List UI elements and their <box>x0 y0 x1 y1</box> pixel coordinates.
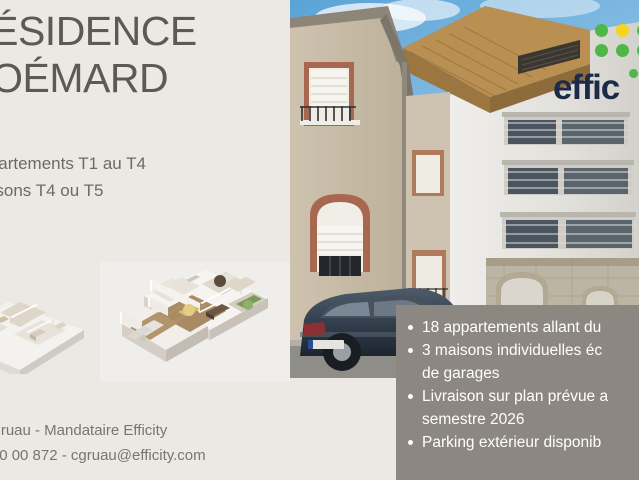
logo-dot-4 <box>595 44 608 57</box>
title-line-1: RÉSIDENCE <box>0 8 292 55</box>
feature-item-2: 3 maisons individuelles éc <box>396 339 639 362</box>
feature-item-3: Livraison sur plan prévue a <box>396 385 639 408</box>
feature-item-3-continued: semestre 2026 <box>396 408 639 431</box>
logo-i-dot-icon <box>629 69 638 78</box>
feature-item-2-continued: de garages <box>396 362 639 385</box>
logo-dot-1 <box>595 24 608 37</box>
logo-dot-5 <box>616 44 629 57</box>
subtitle-block: Appartements T1 au T4 Maisons T4 ou T5 <box>0 150 298 204</box>
presentation-slide: RÉSIDENCE NOÉMARD Appartements T1 au T4 … <box>0 0 639 480</box>
floor-plan-image-b <box>100 262 290 382</box>
title-line-2: NOÉMARD <box>0 55 292 102</box>
left-content-column: RÉSIDENCE NOÉMARD Appartements T1 au T4 … <box>0 0 290 480</box>
feature-item-1: 18 appartements allant du <box>396 316 639 339</box>
efficity-logo: effic <box>553 24 639 108</box>
floor-plan-b-graphic <box>100 262 290 382</box>
contact-line-email[interactable]: 06 00 00 872 - cgruau@efficity.com <box>0 443 310 468</box>
contact-line-agent: C. Gruau - Mandataire Efficity <box>0 418 310 443</box>
subtitle-line-2: Maisons T4 ou T5 <box>0 177 298 204</box>
features-panel: 18 appartements allant du 3 maisons indi… <box>396 305 639 480</box>
contact-block: C. Gruau - Mandataire Efficity 06 00 00 … <box>0 418 310 468</box>
floor-plan-a-graphic <box>0 270 92 374</box>
floor-plan-gallery <box>0 262 290 382</box>
features-list: 18 appartements allant du 3 maisons indi… <box>396 305 639 454</box>
logo-dot-2 <box>616 24 629 37</box>
feature-item-4: Parking extérieur disponib <box>396 431 639 454</box>
subtitle-line-1: Appartements T1 au T4 <box>0 150 298 177</box>
floor-plan-image-a <box>0 270 92 374</box>
efficity-logo-dots <box>595 24 639 64</box>
page-title: RÉSIDENCE NOÉMARD <box>0 8 292 102</box>
efficity-wordmark: effic <box>553 68 619 108</box>
